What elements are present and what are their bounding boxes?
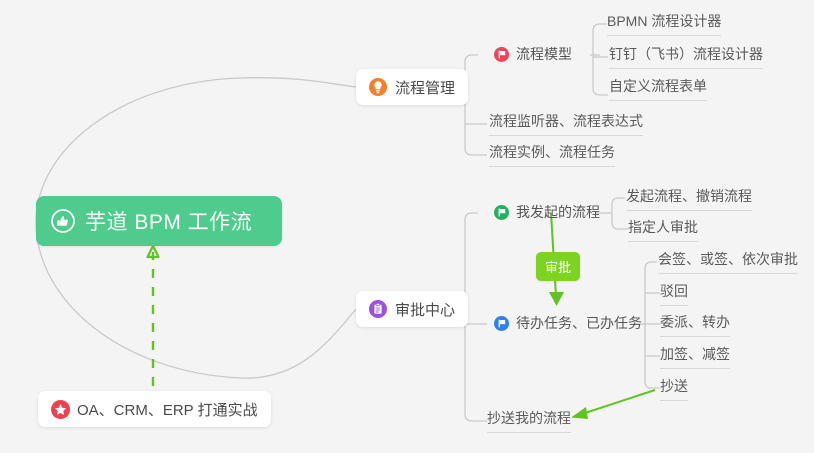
flag-blue-icon (494, 316, 509, 331)
leaf-process-instance-task[interactable]: 流程实例、流程任务 (489, 142, 615, 167)
flag-green-icon (494, 205, 509, 220)
sub-node-my-initiated-process[interactable]: 我发起的流程 (494, 202, 600, 222)
leaf-carbon-copy[interactable]: 抄送 (660, 376, 688, 401)
sub-node-label-todo-done-tasks: 待办任务、已办任务 (516, 313, 642, 333)
leaf-reject[interactable]: 驳回 (660, 281, 688, 306)
wire-model-bracket (593, 24, 608, 95)
leaf-custom-process-form[interactable]: 自定义流程表单 (609, 76, 707, 101)
branch-label-approval-center: 审批中心 (395, 299, 455, 320)
integration-note-label: OA、CRM、ERP 打通实战 (77, 399, 258, 420)
annotation-badge-approve[interactable]: 审批 (536, 252, 580, 281)
sub-node-todo-done-tasks[interactable]: 待办任务、已办任务 (494, 313, 642, 333)
wire-ac-bracket (465, 213, 487, 421)
sub-node-label-process-model: 流程模型 (516, 44, 572, 64)
leaf-process-listener-expression[interactable]: 流程监听器、流程表达式 (489, 111, 643, 136)
flag-red-icon (494, 47, 509, 62)
branch-node-process-management[interactable]: 流程管理 (356, 69, 468, 105)
root-node[interactable]: 芋道 BPM 工作流 (36, 196, 282, 246)
root-label: 芋道 BPM 工作流 (85, 206, 252, 236)
arrow-integration-to-root (148, 246, 159, 386)
branch-node-approval-center[interactable]: 审批中心 (356, 291, 468, 327)
thumbs-up-icon (50, 208, 76, 234)
sub-node-process-model[interactable]: 流程模型 (494, 44, 572, 64)
sub-node-label-my-initiated-process: 我发起的流程 (516, 202, 600, 222)
leaf-add-remove-sign[interactable]: 加签、减签 (660, 344, 730, 369)
leaf-bpmn-designer[interactable]: BPMN 流程设计器 (607, 11, 721, 36)
arrow-cc-to-cc-my-process (571, 390, 655, 419)
wire-pm-bracket (465, 55, 487, 155)
leaf-start-cancel-process[interactable]: 发起流程、撤销流程 (626, 186, 752, 211)
leaf-cc-my-process[interactable]: 抄送我的流程 (487, 408, 571, 433)
leaf-assignee-approval[interactable]: 指定人审批 (628, 217, 698, 242)
bulb-icon (369, 78, 387, 96)
leaf-delegate-transfer[interactable]: 委派、转办 (660, 312, 730, 337)
wire-todo-bracket (645, 262, 660, 388)
mindmap-canvas: 芋道 BPM 工作流 流程管理 审批中心 (0, 0, 814, 453)
star-icon (51, 400, 69, 418)
integration-note-node[interactable]: OA、CRM、ERP 打通实战 (38, 391, 271, 427)
leaf-countersign-orsign-sequential[interactable]: 会签、或签、依次审批 (658, 249, 798, 274)
branch-label-process-management: 流程管理 (395, 77, 455, 98)
leaf-dingtalk-feishu-designer[interactable]: 钉钉（飞书）流程设计器 (609, 44, 763, 69)
clipboard-icon (369, 300, 387, 318)
